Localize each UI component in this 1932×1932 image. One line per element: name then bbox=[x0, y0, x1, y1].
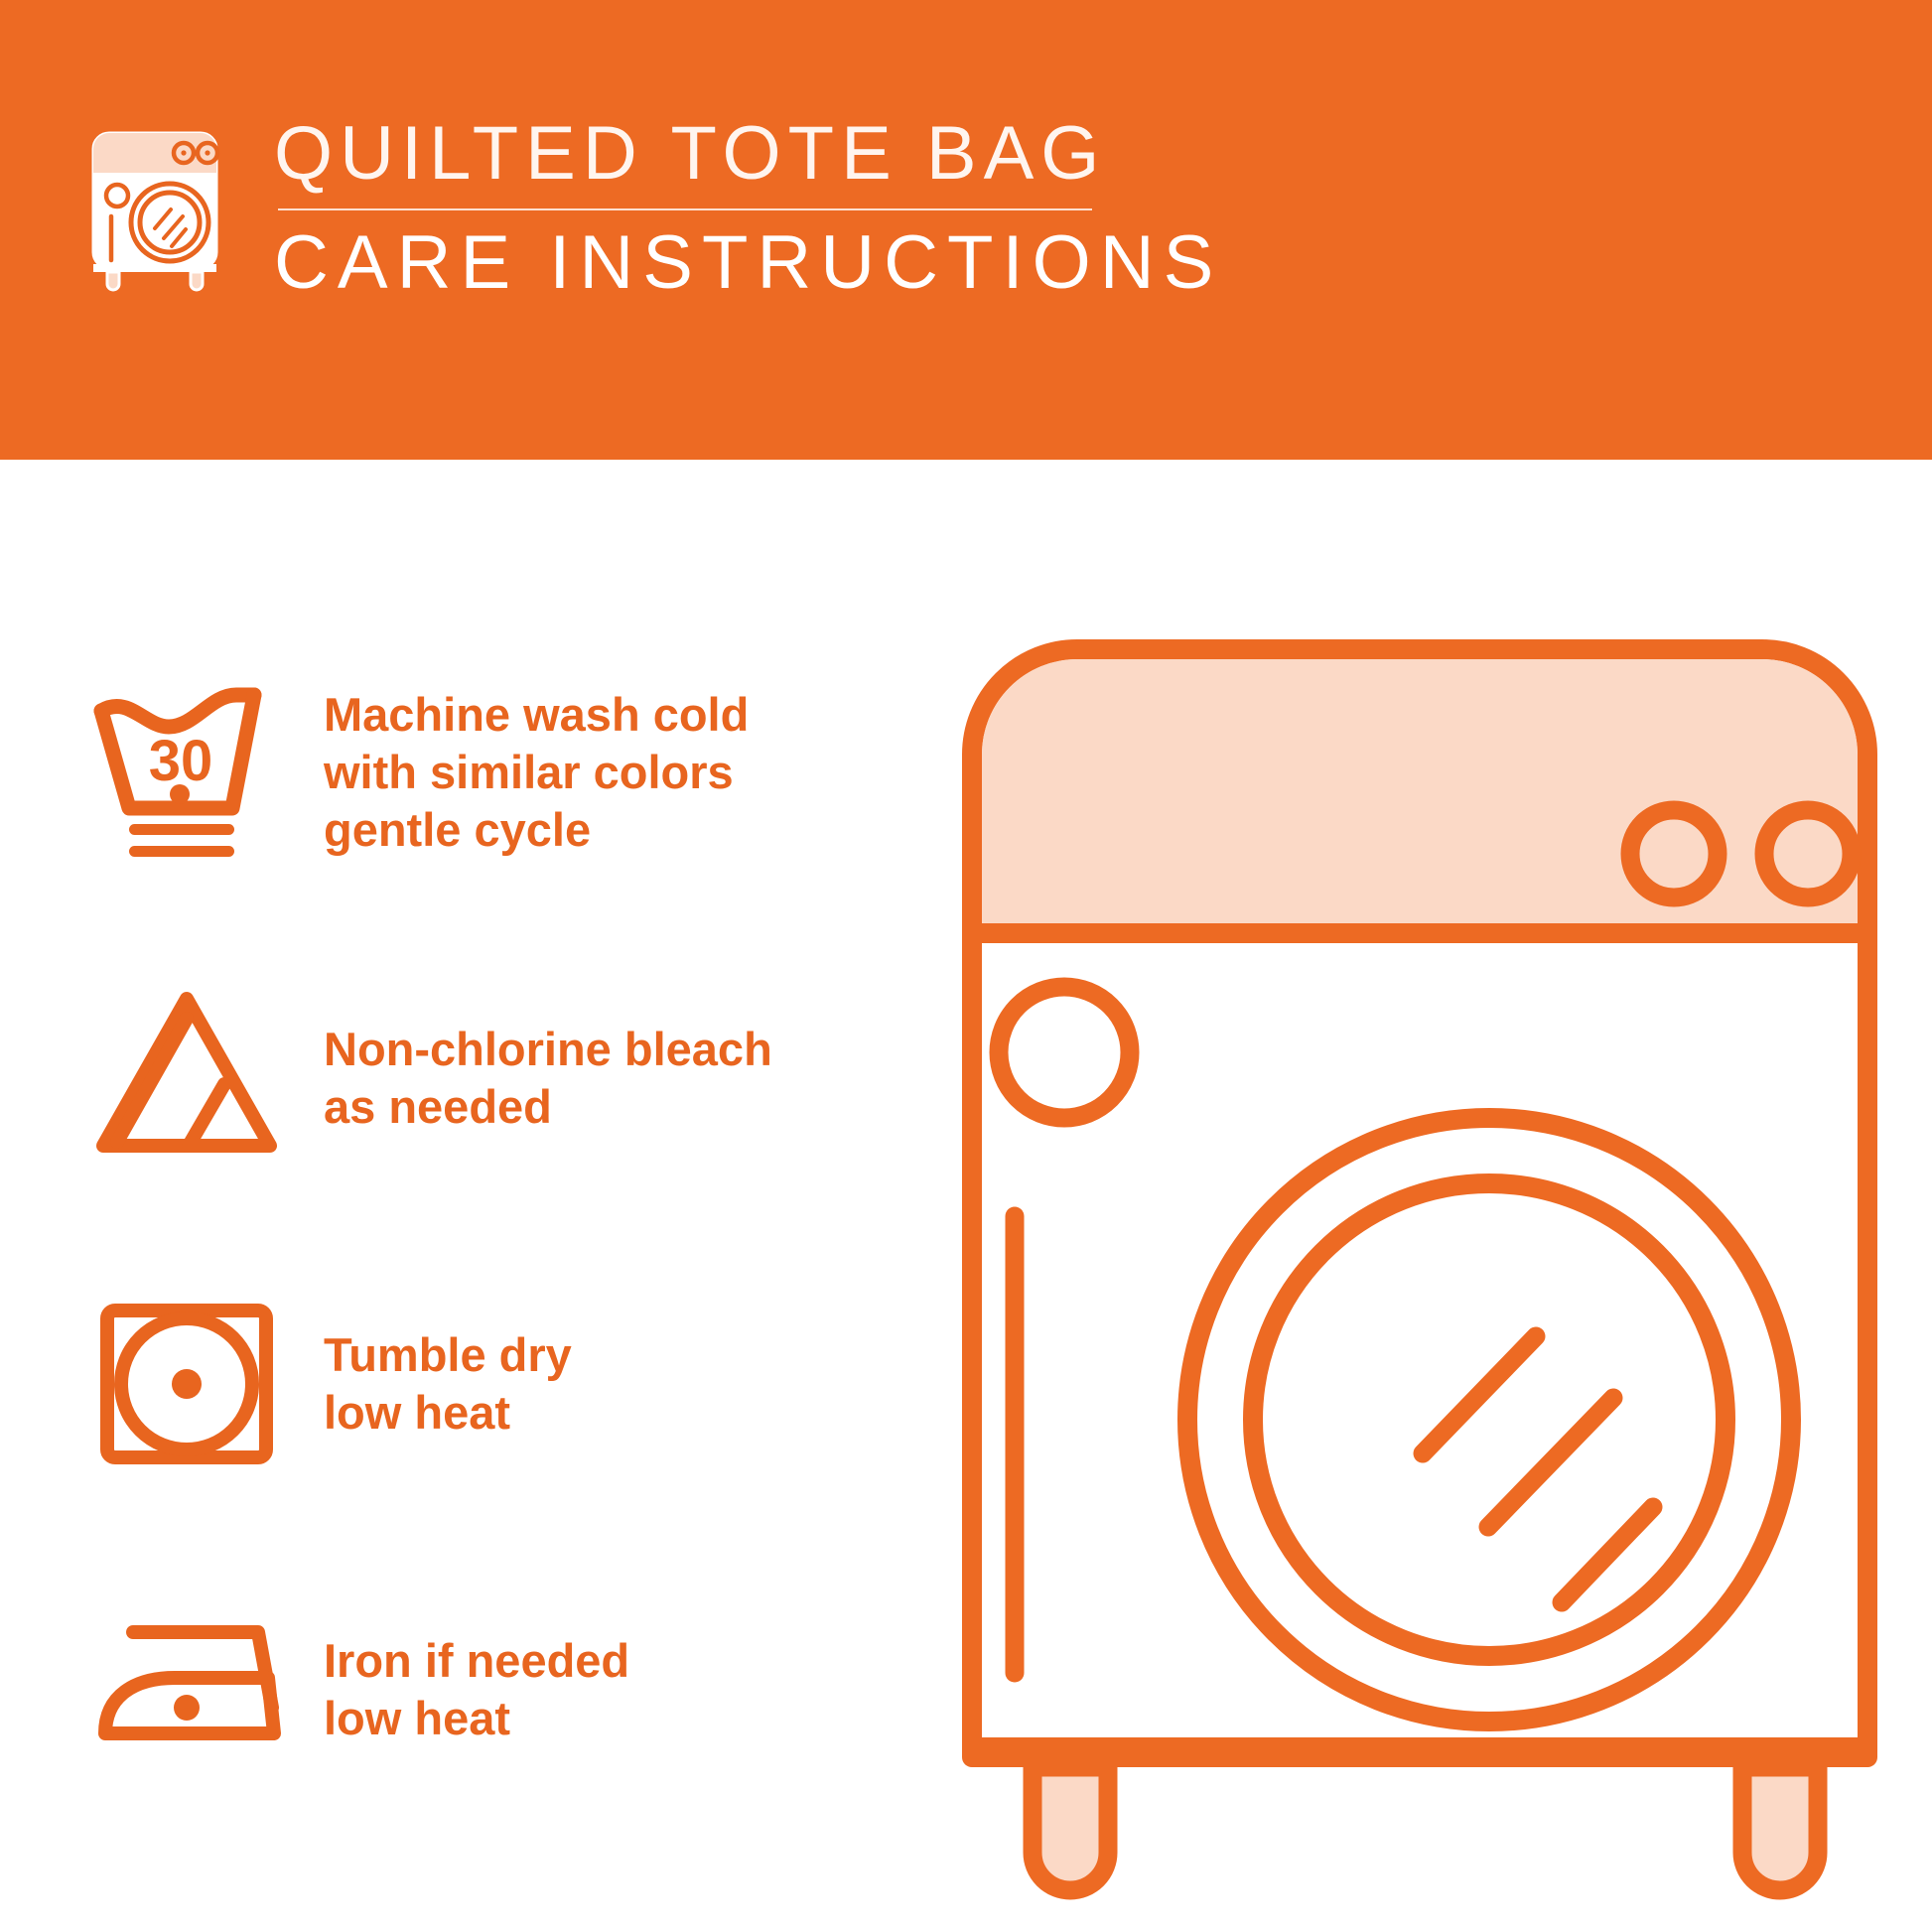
wash-temperature-label: 30 bbox=[149, 729, 213, 793]
title-divider bbox=[278, 208, 1092, 210]
list-item-label: Non-chlorine bleach as needed bbox=[324, 1021, 772, 1136]
leg-left bbox=[1033, 1767, 1108, 1890]
machine-wash-30-gentle-icon: 30 bbox=[83, 669, 290, 876]
washing-machine-icon bbox=[71, 117, 238, 292]
list-item-label: Tumble dry low heat bbox=[324, 1326, 572, 1442]
list-item: Iron if needed low heat bbox=[83, 1573, 917, 1807]
list-item: Tumble dry low heat bbox=[83, 1267, 917, 1501]
header-content: QUILTED TOTE BAG CARE INSTRUCTIONS bbox=[71, 111, 1222, 306]
header-title-group: QUILTED TOTE BAG CARE INSTRUCTIONS bbox=[274, 111, 1222, 306]
list-item-label: Machine wash cold with similar colors ge… bbox=[324, 686, 749, 859]
non-chlorine-bleach-triangle-icon bbox=[83, 975, 290, 1181]
list-item-label: Iron if needed low heat bbox=[324, 1632, 629, 1747]
list-item: Non-chlorine bleach as needed bbox=[83, 961, 917, 1195]
page-title: QUILTED TOTE BAG bbox=[274, 111, 1222, 197]
tumble-dry-low-heat-icon bbox=[83, 1281, 290, 1487]
leg-right bbox=[1742, 1767, 1818, 1890]
page-subtitle: CARE INSTRUCTIONS bbox=[274, 220, 1222, 306]
iron-low-heat-icon bbox=[83, 1587, 290, 1793]
header-banner: QUILTED TOTE BAG CARE INSTRUCTIONS bbox=[0, 0, 1932, 460]
care-instructions-infographic: QUILTED TOTE BAG CARE INSTRUCTIONS 30 bbox=[0, 0, 1932, 1932]
care-instructions-list: 30 Machine wash cold with similar colors… bbox=[83, 655, 917, 1878]
list-item: 30 Machine wash cold with similar colors… bbox=[83, 655, 917, 890]
washing-machine-illustration bbox=[958, 635, 1881, 1916]
